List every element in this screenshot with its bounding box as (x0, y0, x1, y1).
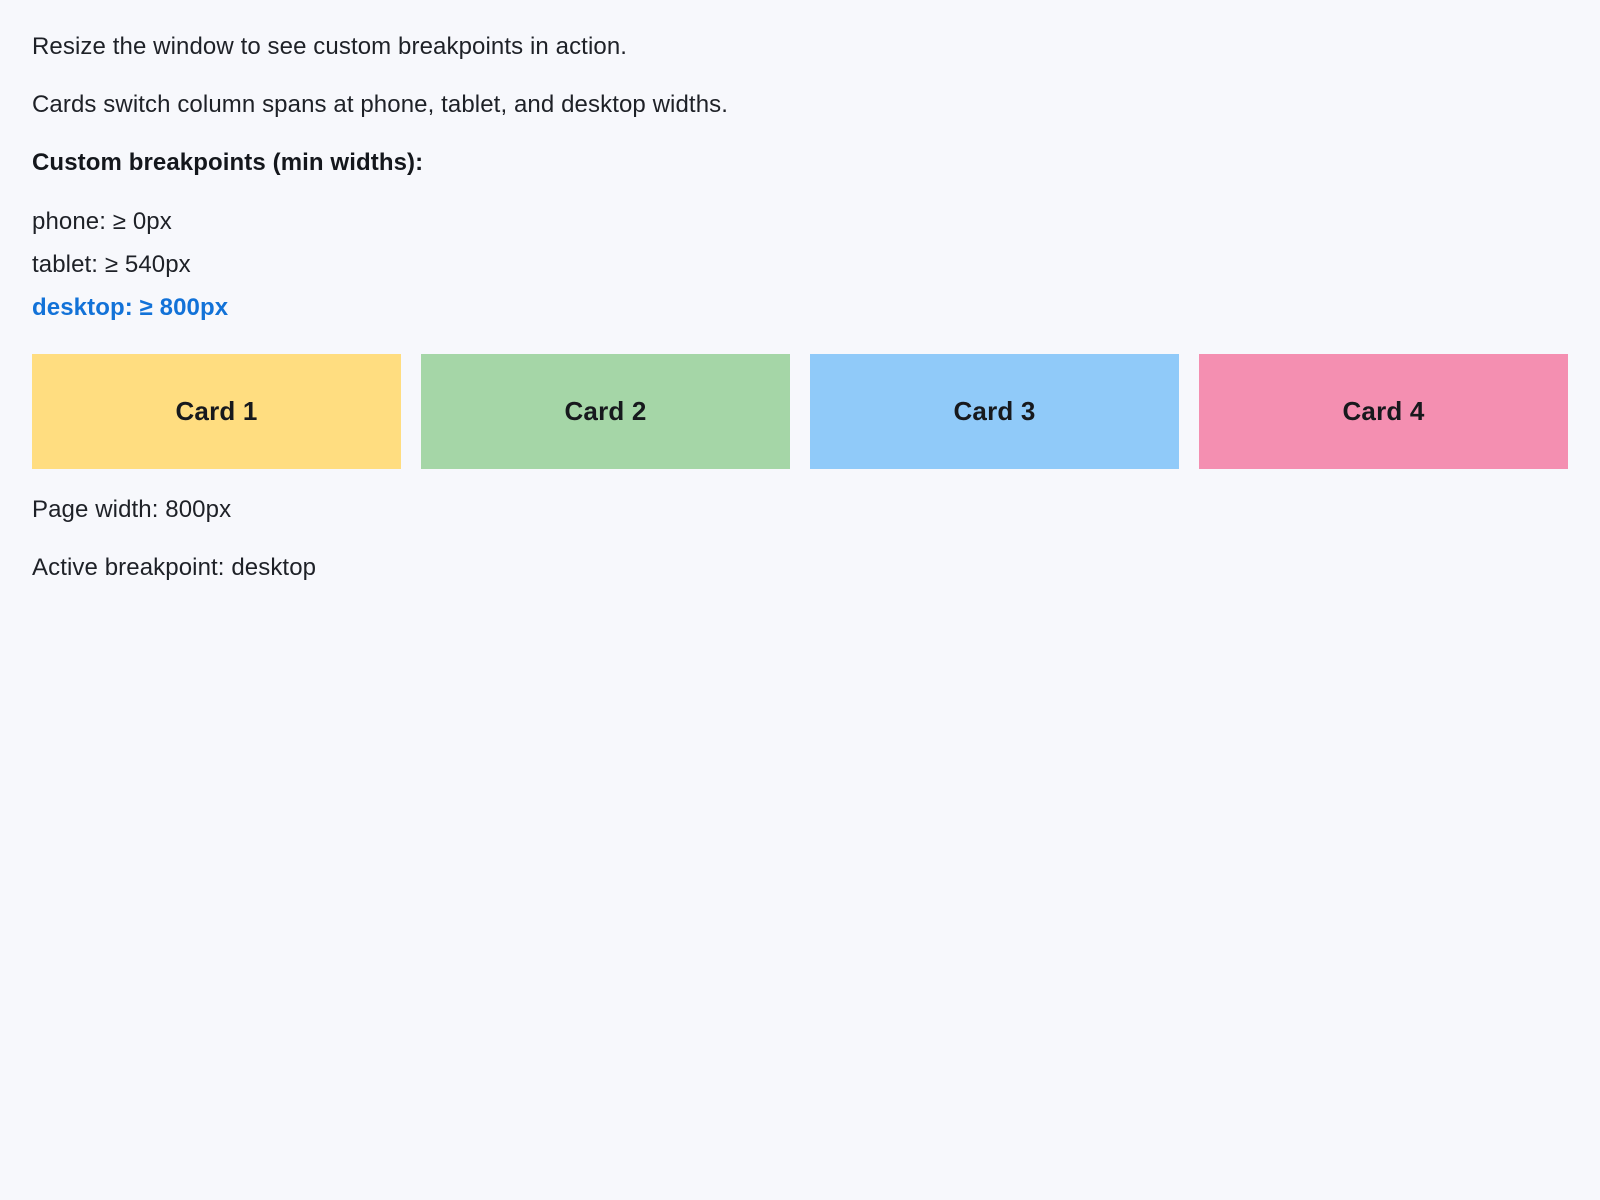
card-1: Card 1 (32, 354, 401, 469)
card-4: Card 4 (1199, 354, 1568, 469)
breakpoint-item-desktop: desktop: ≥ 800px (32, 286, 1568, 329)
card-grid: Card 1Card 2Card 3Card 4 (32, 354, 1568, 469)
card-2: Card 2 (421, 354, 790, 469)
active-breakpoint-status: Active breakpoint: desktop (32, 553, 1568, 583)
page-width-status: Page width: 800px (32, 495, 1568, 525)
breakpoints-list: phone: ≥ 0pxtablet: ≥ 540pxdesktop: ≥ 80… (32, 200, 1568, 330)
intro-line-1: Resize the window to see custom breakpoi… (32, 32, 1568, 62)
card-3: Card 3 (810, 354, 1179, 469)
breakpoints-heading: Custom breakpoints (min widths): (32, 148, 1568, 178)
page-root: Resize the window to see custom breakpoi… (0, 0, 1600, 1200)
breakpoint-item-tablet: tablet: ≥ 540px (32, 243, 1568, 286)
breakpoint-item-phone: phone: ≥ 0px (32, 200, 1568, 243)
intro-line-2: Cards switch column spans at phone, tabl… (32, 90, 1568, 120)
